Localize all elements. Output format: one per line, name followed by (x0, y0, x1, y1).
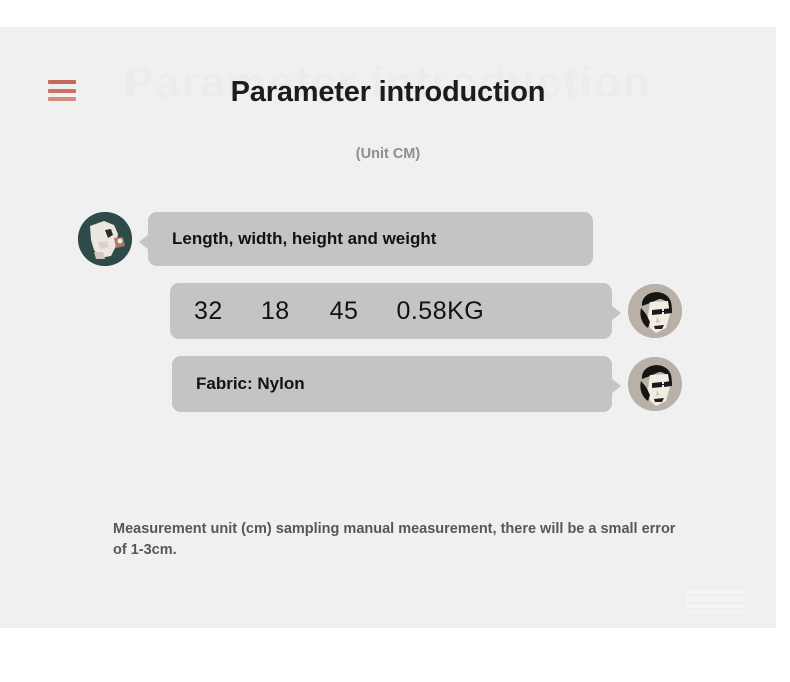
chat-row-right-fabric: Fabric: Nylon (0, 356, 776, 412)
parameter-introduction-page: Parameter introduction Parameter introdu… (0, 0, 790, 682)
dimension-width: 18 (261, 297, 290, 326)
chat-row-right-dimensions: 32 18 45 0.58KG (0, 283, 776, 339)
page-subtitle: (Unit CM) (0, 146, 776, 162)
chat-bubble-text: Length, width, height and weight (172, 229, 436, 249)
avatar-sunglasses-face-art (628, 357, 682, 411)
avatar-dark-face[interactable] (78, 212, 132, 266)
dimension-height: 45 (330, 297, 359, 326)
chat-bubble-dimension-label[interactable]: Length, width, height and weight (148, 212, 593, 266)
chat-bubble-text: Fabric: Nylon (196, 374, 305, 394)
avatar-sunglasses-face[interactable] (628, 357, 682, 411)
chat-list: Length, width, height and weight 32 18 4… (0, 212, 776, 429)
corner-watermark (686, 590, 744, 612)
avatar-dark-face-art (78, 212, 132, 266)
dimension-weight: 0.58KG (396, 297, 484, 326)
dimension-length: 32 (194, 297, 223, 326)
chat-bubble-dimensions[interactable]: 32 18 45 0.58KG (170, 283, 612, 339)
avatar-sunglasses-face-art (628, 284, 682, 338)
chat-bubble-fabric[interactable]: Fabric: Nylon (172, 356, 612, 412)
chat-row-left: Length, width, height and weight (0, 212, 776, 266)
avatar-sunglasses-face[interactable] (628, 284, 682, 338)
measurement-note: Measurement unit (cm) sampling manual me… (113, 519, 693, 561)
page-title: Parameter introduction (0, 76, 776, 109)
